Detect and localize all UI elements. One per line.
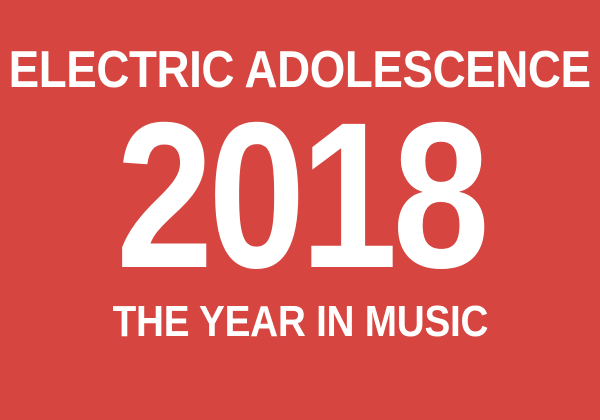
poster-canvas: ELECTRIC ADOLESCENCE 2018 THE YEAR IN MU… [0, 0, 600, 420]
subhead-text: THE YEAR IN MUSIC [112, 300, 488, 344]
year-text: 2018 [116, 92, 485, 300]
title-block: ELECTRIC ADOLESCENCE 2018 THE YEAR IN MU… [0, 0, 600, 420]
